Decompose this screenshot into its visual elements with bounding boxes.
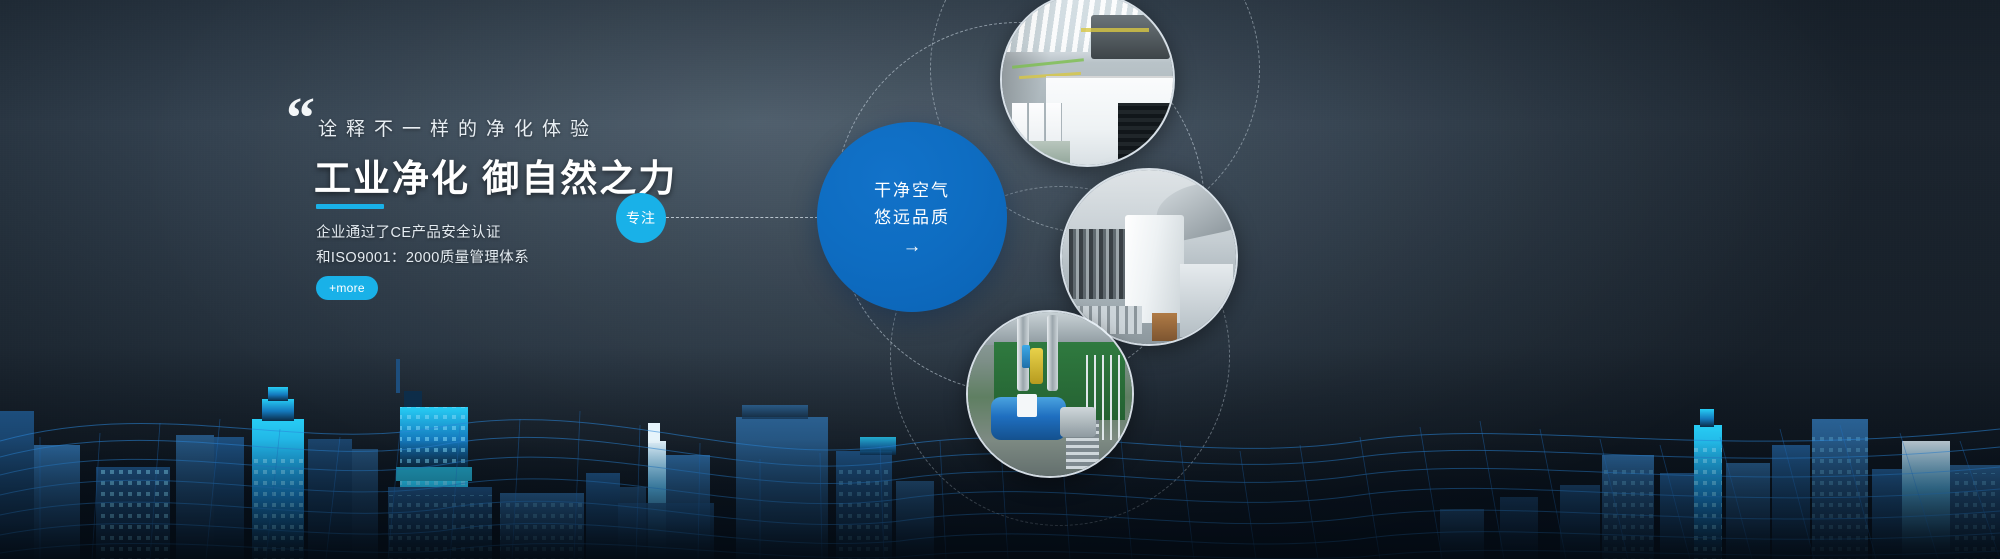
quote-mark-icon: “ <box>286 96 313 140</box>
dashed-connector-line <box>666 217 818 218</box>
hero-subtitle: 诠释不一样的净化体验 <box>318 114 598 141</box>
main-slogan-circle[interactable]: 干净空气 悠远品质 → <box>817 122 1007 312</box>
accent-divider <box>316 204 384 209</box>
more-button[interactable]: +more <box>316 276 378 300</box>
hero-body-line-1: 企业通过了CE产品安全认证 <box>316 221 501 242</box>
page-title: 工业净化 御自然之力 <box>314 148 677 202</box>
photo-circle-industrial-plant-hall[interactable] <box>1000 0 1175 167</box>
hero-banner: “ 诠释不一样的净化体验 工业净化 御自然之力 企业通过了CE产品安全认证 和I… <box>0 0 2000 559</box>
focus-badge[interactable]: 专注 <box>616 193 666 243</box>
hero-body-line-2: 和ISO9001：2000质量管理体系 <box>316 246 529 267</box>
arrow-right-icon: → <box>903 237 922 256</box>
slogan-line-1: 干净空气 <box>874 178 950 204</box>
photo-circle-pressure-vessel-piping[interactable] <box>966 310 1134 478</box>
photo-image-pressure-vessel <box>968 312 1132 476</box>
photo-image-plant-hall <box>1002 0 1173 165</box>
slogan-line-2: 悠远品质 <box>874 205 950 231</box>
